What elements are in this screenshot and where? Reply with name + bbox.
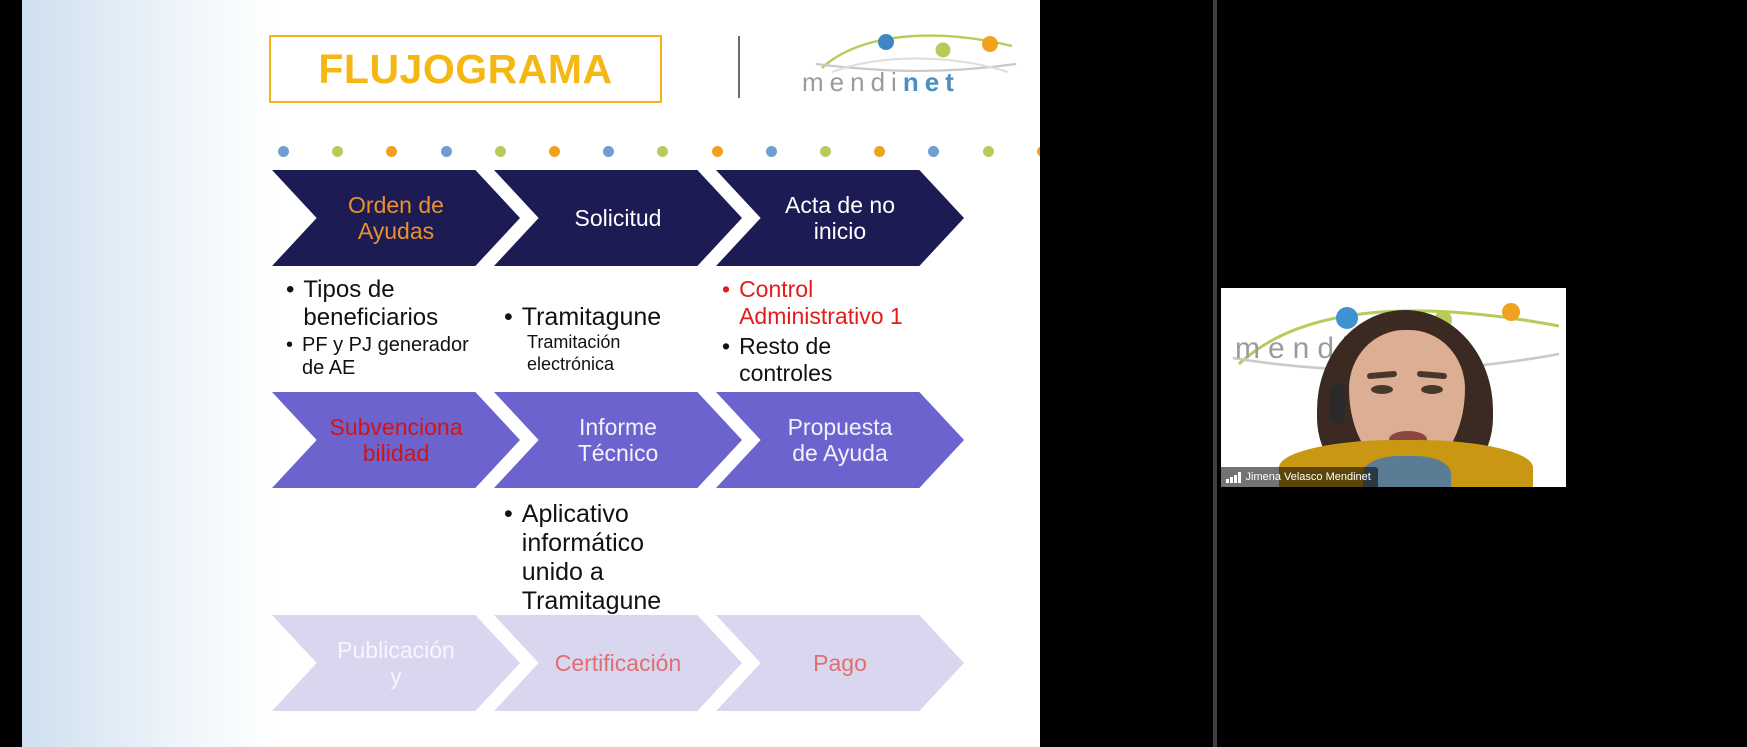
process-step-subvencionabilidad[interactable]: Subvencionabilidad <box>272 392 520 488</box>
list-item-subtext: Tramitaciónelectrónica <box>527 332 719 375</box>
presentation-slide[interactable]: FLUJOGRAMA mendinet Orden deAyudas <box>22 0 1040 747</box>
decorative-dot <box>495 146 506 157</box>
participant-video-tile[interactable]: mendi Jimena Velasco Mendinet <box>1221 288 1566 487</box>
list-item: • ControlAdministrativo 1 <box>722 276 952 329</box>
process-step-label: Propuestade Ayuda <box>782 414 899 467</box>
process-step-label: Acta de noinicio <box>779 192 901 245</box>
left-gutter <box>0 0 22 747</box>
signal-strength-icon <box>1226 472 1241 483</box>
process-step-informe-tecnico[interactable]: InformeTécnico <box>494 392 742 488</box>
decorative-dot <box>874 146 885 157</box>
list-item: • Tramitagune <box>504 303 719 332</box>
decorative-dot-rule <box>278 143 1040 159</box>
participant-eye-right <box>1421 385 1443 394</box>
decorative-dot <box>766 146 777 157</box>
participant-name: Jimena Velasco Mendinet <box>1246 471 1371 483</box>
bullet-icon: • <box>286 334 293 357</box>
decorative-dot <box>983 146 994 157</box>
decorative-dot <box>332 146 343 157</box>
meeting-screen: FLUJOGRAMA mendinet Orden deAyudas <box>0 0 1747 747</box>
decorative-dot <box>386 146 397 157</box>
column-1-notes: • Tipos debeneficiarios • PF y PJ genera… <box>286 276 506 380</box>
list-item-label: Tramitagune <box>522 303 661 332</box>
process-step-label: Solicitud <box>569 205 668 231</box>
list-item-label: PF y PJ generadorde AE <box>302 334 469 380</box>
list-item-label: Resto decontroles <box>739 333 832 386</box>
list-item: • Aplicativoinformáticounido aTramitagun… <box>504 500 719 616</box>
list-item: • Tipos debeneficiarios <box>286 276 506 332</box>
process-step-label: Subvencionabilidad <box>324 414 469 467</box>
column-3-notes: • ControlAdministrativo 1 • Resto decont… <box>722 276 952 387</box>
process-step-publicacion[interactable]: Publicacióny <box>272 615 520 711</box>
list-item-label: Tipos debeneficiarios <box>303 276 438 332</box>
process-step-label: InformeTécnico <box>572 414 665 467</box>
slide-title-box: FLUJOGRAMA <box>269 35 662 103</box>
decorative-dot <box>928 146 939 157</box>
logo-word-mendi: mendi <box>802 67 903 97</box>
title-divider <box>738 36 740 98</box>
process-step-solicitud[interactable]: Solicitud <box>494 170 742 266</box>
process-step-propuesta-de-ayuda[interactable]: Propuestade Ayuda <box>716 392 964 488</box>
bullet-icon: • <box>286 276 294 304</box>
mendinet-logo: mendinet <box>780 24 1020 104</box>
process-step-acta-de-no-inicio[interactable]: Acta de noinicio <box>716 170 964 266</box>
logo-wordmark: mendinet <box>802 67 960 98</box>
list-item-label: ControlAdministrativo 1 <box>739 276 903 329</box>
decorative-dot <box>603 146 614 157</box>
process-row-3: Publicacióny Certificación Pago <box>272 615 972 711</box>
bullet-icon: • <box>722 276 730 303</box>
participant-name-strip: Jimena Velasco Mendinet <box>1221 467 1378 487</box>
list-item: • Resto decontroles <box>722 333 952 386</box>
process-step-orden-de-ayudas[interactable]: Orden deAyudas <box>272 170 520 266</box>
list-item: • PF y PJ generadorde AE <box>286 334 506 380</box>
process-step-label: Orden deAyudas <box>342 192 450 245</box>
process-row-1: Orden deAyudas Solicitud Acta de noinici… <box>272 170 972 266</box>
logo-word-net: net <box>903 67 960 97</box>
participant-headset <box>1329 384 1345 424</box>
decorative-dot <box>278 146 289 157</box>
bullet-icon: • <box>504 303 513 332</box>
decorative-dot <box>657 146 668 157</box>
column-2-notes: • Tramitagune Tramitaciónelectrónica <box>504 303 719 375</box>
process-step-label: Publicacióny <box>331 637 461 690</box>
bullet-icon: • <box>504 500 513 529</box>
process-row-2: Subvencionabilidad InformeTécnico Propue… <box>272 392 972 488</box>
decorative-dot <box>712 146 723 157</box>
decorative-dot <box>441 146 452 157</box>
process-step-certificacion[interactable]: Certificación <box>494 615 742 711</box>
decorative-dot <box>549 146 560 157</box>
column-2-notes-lower: • Aplicativoinformáticounido aTramitagun… <box>504 500 719 616</box>
process-step-label: Pago <box>807 650 873 676</box>
slide-gradient-band <box>22 0 280 747</box>
panel-divider <box>1213 0 1217 747</box>
process-step-label: Certificación <box>549 650 688 676</box>
list-item-label: Aplicativoinformáticounido aTramitagune <box>522 500 661 616</box>
participant-eye-left <box>1371 385 1393 394</box>
decorative-dot <box>820 146 831 157</box>
bullet-icon: • <box>722 333 730 360</box>
process-step-pago[interactable]: Pago <box>716 615 964 711</box>
page-title: FLUJOGRAMA <box>318 46 612 93</box>
